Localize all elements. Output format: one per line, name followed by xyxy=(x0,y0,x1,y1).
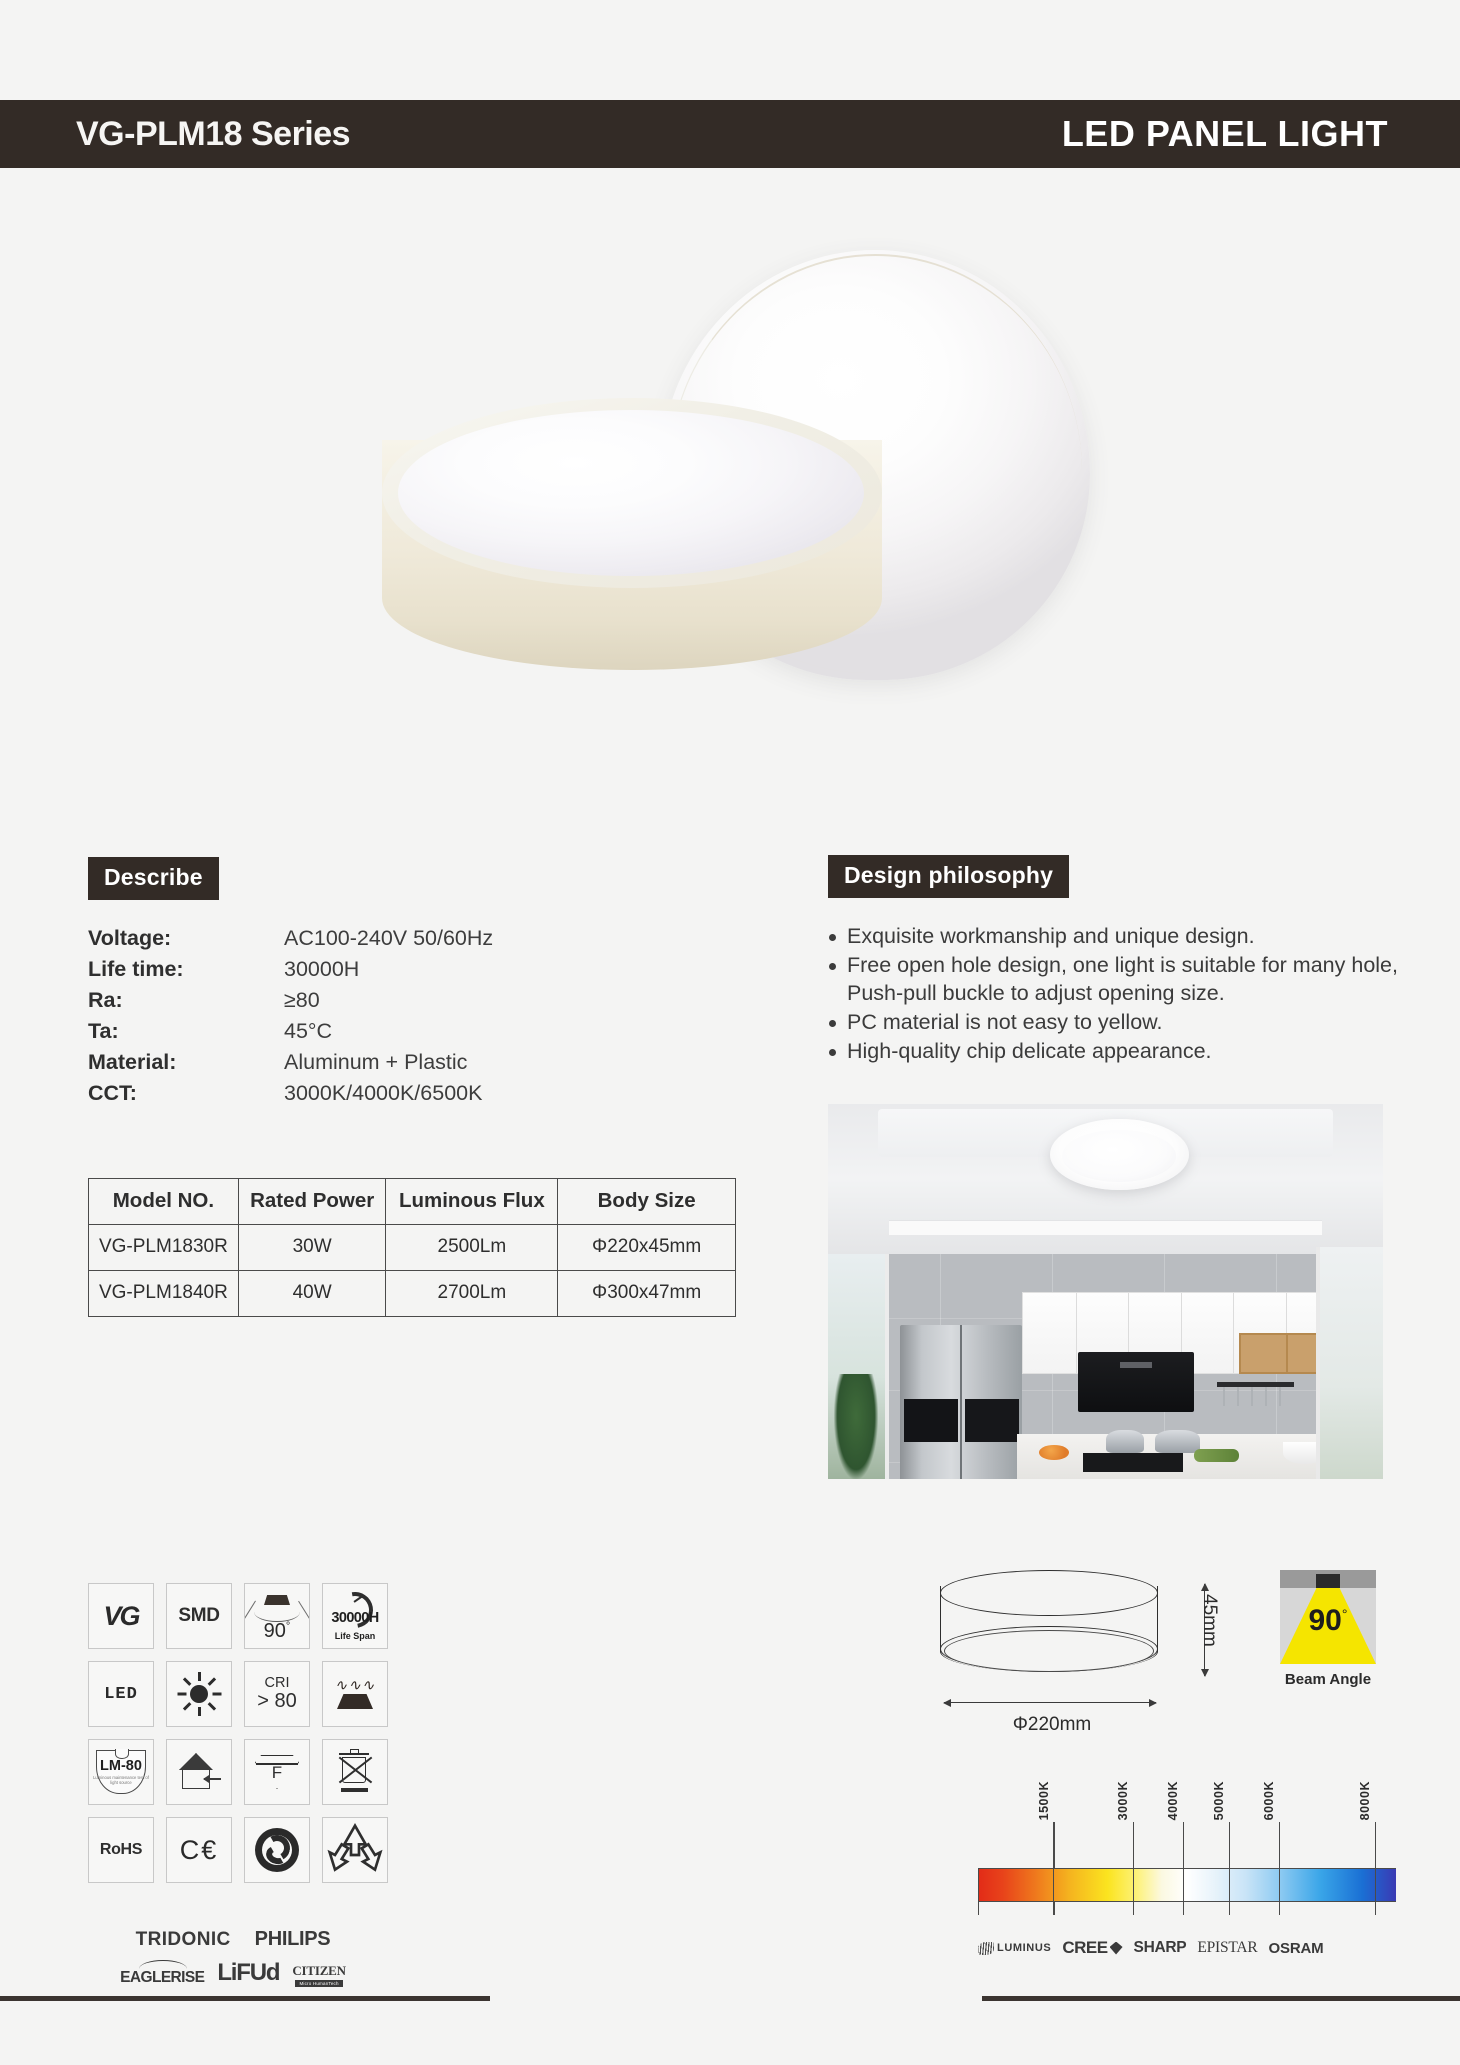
sun-ray xyxy=(213,1693,222,1696)
spec-key: Voltage: xyxy=(88,926,284,951)
brightness-sun-icon xyxy=(166,1661,232,1727)
design-bullet: Exquisite workmanship and unique design. xyxy=(828,923,1408,950)
spec-key: Material: xyxy=(88,1050,284,1075)
color-temperature-scale: 1500K 3000K 4000K 5000K 6000K 8000K xyxy=(978,1800,1396,1915)
beam-angle-value: 90° xyxy=(247,1620,307,1643)
chip-brand-logos: LUMINUS CREE SHARP EPISTAR OSRAM xyxy=(978,1938,1398,1958)
driver-brand-logos: TRIDONIC PHILIPS EAGLERISE LiFUd CITIZEN… xyxy=(88,1928,378,1987)
cct-tick xyxy=(1279,1822,1280,1868)
recycle-icon xyxy=(322,1817,388,1883)
no-flicker-glyph: F xyxy=(253,1750,301,1794)
led-label: LED xyxy=(104,1685,138,1704)
brand-citizen-sub: Micro HumanTech xyxy=(295,1980,342,1987)
ce-mark: C€ xyxy=(180,1835,219,1866)
led-icon: LED xyxy=(88,1661,154,1727)
brand-eaglerise: EAGLERISE xyxy=(120,1969,204,1987)
column-header-model: Model NO. xyxy=(89,1179,239,1225)
brand-citizen-name: CITIZEN xyxy=(292,1963,346,1979)
utensil xyxy=(1279,1387,1281,1406)
life-span-hours: 30000H xyxy=(326,1610,384,1626)
beam-fixture xyxy=(1316,1574,1340,1588)
spec-value: 45°C xyxy=(284,1019,332,1044)
diameter-dimension-label: Φ220mm xyxy=(912,1714,1192,1736)
disc-top-ellipse xyxy=(940,1570,1158,1616)
cct-bar-tick xyxy=(1053,1869,1054,1901)
cct-tick xyxy=(1375,1822,1376,1868)
spec-row: Ra: ≥80 xyxy=(88,988,728,1013)
spec-key: CCT: xyxy=(88,1081,284,1106)
beam-angle-number: 90° xyxy=(1280,1604,1376,1638)
brand-philips: PHILIPS xyxy=(255,1928,331,1951)
cell-power: 40W xyxy=(238,1271,386,1317)
beam-arc xyxy=(254,1602,300,1622)
describe-section: Describe Voltage: AC100-240V 50/60Hz Lif… xyxy=(88,857,728,1112)
life-span-icon: 30000H Life Span xyxy=(322,1583,388,1649)
luminus-fan-icon xyxy=(978,1942,994,1955)
cri-icon: CRI > 80 xyxy=(244,1661,310,1727)
spec-value: ≥80 xyxy=(284,988,320,1013)
column-header-flux: Luminous Flux xyxy=(386,1179,558,1225)
design-section-label: Design philosophy xyxy=(828,855,1069,898)
cabinet-seam xyxy=(1076,1293,1077,1374)
cct-tick-label: 6000K xyxy=(1262,1781,1276,1820)
brand-tridonic: TRIDONIC xyxy=(136,1929,231,1951)
driver-brand-row-2: EAGLERISE LiFUd CITIZEN Micro HumanTech xyxy=(88,1959,378,1987)
design-bullet: PC material is not easy to yellow. xyxy=(828,1009,1408,1036)
range-hood-display xyxy=(1120,1362,1153,1367)
utensil xyxy=(1265,1387,1267,1406)
spec-row: CCT: 3000K/4000K/6500K xyxy=(88,1081,728,1106)
footer-rule-right xyxy=(982,1996,1460,2001)
rohs-icon: RoHS xyxy=(88,1817,154,1883)
feature-icon-grid: VG SMD 90° 30000H Life Span LED xyxy=(88,1583,388,1883)
sun-ray xyxy=(183,1702,191,1710)
disc-bottom-inner-ellipse xyxy=(944,1630,1154,1672)
cct-under-tick xyxy=(1053,1902,1054,1915)
cell-model: VG-PLM1830R xyxy=(89,1225,239,1271)
product-hero-image xyxy=(380,250,1100,770)
heat-glyph: ∿∿∿ xyxy=(332,1673,378,1715)
column-header-power: Rated Power xyxy=(238,1179,386,1225)
spec-value: 3000K/4000K/6500K xyxy=(284,1081,482,1106)
lm80-icon: LM-80 Luminous maintenance test of light… xyxy=(88,1739,154,1805)
no-flicker-icon: F xyxy=(244,1739,310,1805)
refrigerator-door-split xyxy=(960,1325,962,1479)
spec-value: 30000H xyxy=(284,957,359,982)
cct-under-tick xyxy=(978,1902,979,1915)
heat-dissipation-icon: ∿∿∿ xyxy=(322,1661,388,1727)
model-specification-table: Model NO. Rated Power Luminous Flux Body… xyxy=(88,1178,736,1317)
cct-gradient-bar xyxy=(978,1868,1396,1902)
green-dot-icon xyxy=(244,1817,310,1883)
cct-tick xyxy=(1183,1822,1184,1868)
spec-row: Ta: 45°C xyxy=(88,1019,728,1044)
kitchen-refrigerator xyxy=(900,1325,1022,1479)
application-photo-kitchen xyxy=(828,1104,1383,1479)
house-glyph xyxy=(175,1751,223,1793)
beam-angle-glyph: 90° xyxy=(247,1588,307,1644)
flicker-letter: F xyxy=(253,1763,301,1783)
brand-osram: OSRAM xyxy=(1269,1940,1324,1957)
waste-bin-glyph xyxy=(334,1749,376,1795)
cree-diamond-icon xyxy=(1110,1942,1123,1955)
brand-luminus: LUMINUS xyxy=(978,1942,1051,1955)
cct-tick-label: 4000K xyxy=(1166,1781,1180,1820)
spec-value: AC100-240V 50/60Hz xyxy=(284,926,493,951)
sun-ray xyxy=(198,1672,201,1681)
cct-under-tick-row xyxy=(978,1902,1396,1915)
vg-logo-text: VG xyxy=(103,1601,138,1632)
spec-list: Voltage: AC100-240V 50/60Hz Life time: 3… xyxy=(88,926,728,1106)
cri-value: > 80 xyxy=(257,1691,296,1712)
cct-tick-label: 3000K xyxy=(1116,1781,1130,1820)
cell-size: Φ300x47mm xyxy=(558,1271,736,1317)
brand-cree: CREE xyxy=(1062,1938,1122,1958)
brand-citizen: CITIZEN Micro HumanTech xyxy=(292,1963,346,1987)
shelf-divider xyxy=(1286,1335,1288,1372)
footer-rule-left xyxy=(0,1996,490,2001)
cri-label: CRI xyxy=(265,1676,290,1691)
cct-bar-tick xyxy=(1133,1869,1134,1901)
cell-power: 30W xyxy=(238,1225,386,1271)
cct-tick-label: 1500K xyxy=(1037,1781,1051,1820)
cooking-pot xyxy=(1155,1430,1199,1453)
sun-core xyxy=(190,1685,208,1703)
table-row: VG-PLM1840R 40W 2700Lm Φ300x47mm xyxy=(89,1271,736,1317)
table-header-row: Model NO. Rated Power Luminous Flux Body… xyxy=(89,1179,736,1225)
cct-tick-row: 1500K 3000K 4000K 5000K 6000K 8000K xyxy=(978,1800,1396,1868)
brand-lifud: LiFUd xyxy=(217,1959,279,1987)
utensil xyxy=(1237,1387,1239,1406)
sun-ray xyxy=(198,1707,201,1716)
spec-key: Ta: xyxy=(88,1019,284,1044)
driver-brand-row-1: TRIDONIC PHILIPS xyxy=(88,1928,378,1951)
brand-sharp: SHARP xyxy=(1134,1939,1187,1957)
cct-bar-tick xyxy=(978,1869,979,1901)
dimension-drawing: Φ220mm 45mm xyxy=(912,1570,1192,1770)
cct-under-tick xyxy=(1133,1902,1134,1915)
bin-underline xyxy=(341,1788,368,1792)
sun-ray xyxy=(178,1693,187,1696)
vg-logo-icon: VG xyxy=(88,1583,154,1649)
house-arrow xyxy=(204,1778,221,1780)
bin-lid xyxy=(339,1753,369,1755)
lm80-caption: Luminous maintenance test of light sourc… xyxy=(93,1775,149,1786)
describe-section-label: Describe xyxy=(88,857,219,900)
bin-handle xyxy=(350,1749,359,1753)
cabinet-seam xyxy=(1233,1293,1234,1374)
spec-row: Material: Aluminum + Plastic xyxy=(88,1050,728,1075)
datasheet-page: VG-PLM18 Series LED PANEL LIGHT Describe… xyxy=(0,0,1460,2065)
kitchen-range-hood xyxy=(1078,1352,1195,1412)
cell-size: Φ220x45mm xyxy=(558,1225,736,1271)
brand-epistar: EPISTAR xyxy=(1197,1939,1257,1957)
kitchen-plant xyxy=(834,1374,878,1479)
cct-bar-tick xyxy=(1229,1869,1230,1901)
diameter-dimension-line xyxy=(944,1702,1156,1703)
cooking-pot xyxy=(1106,1430,1145,1453)
cct-tick xyxy=(1229,1822,1230,1868)
table-row: VG-PLM1830R 30W 2500Lm Φ220x45mm xyxy=(89,1225,736,1271)
height-dimension-label: 45mm xyxy=(1198,1594,1220,1647)
kitchen-stove xyxy=(1083,1453,1183,1472)
beam-angle-badge: 90° Beam Angle xyxy=(1280,1570,1376,1688)
refrigerator-panel-right xyxy=(965,1399,1019,1442)
utensil xyxy=(1251,1387,1253,1406)
product-series-title: VG-PLM18 Series xyxy=(76,115,350,154)
smd-icon: SMD xyxy=(166,1583,232,1649)
recycle-glyph xyxy=(323,1819,387,1880)
rohs-label: RoHS xyxy=(100,1841,142,1859)
cct-under-tick xyxy=(1183,1902,1184,1915)
design-bullet-list: Exquisite workmanship and unique design.… xyxy=(828,923,1408,1065)
no-bin-icon xyxy=(322,1739,388,1805)
life-span-caption: Life Span xyxy=(326,1631,384,1641)
lamp-cylinder-lens xyxy=(398,410,864,576)
spec-key: Life time: xyxy=(88,957,284,982)
kitchen-installed-lamp xyxy=(1050,1119,1189,1190)
brand-luminus-label: LUMINUS xyxy=(997,1942,1051,1954)
design-bullet: Free open hole design, one light is suit… xyxy=(828,952,1408,1007)
page-header: VG-PLM18 Series LED PANEL LIGHT xyxy=(0,100,1460,168)
kitchen-cornice xyxy=(889,1220,1322,1235)
cct-bar-tick xyxy=(1183,1869,1184,1901)
spec-row: Life time: 30000H xyxy=(88,957,728,982)
beam-angle-caption: Beam Angle xyxy=(1280,1671,1376,1688)
lm80-label: LM-80 xyxy=(93,1758,149,1774)
lm80-glyph: LM-80 Luminous maintenance test of light… xyxy=(93,1745,149,1799)
refrigerator-panel-left xyxy=(904,1399,958,1442)
page-title: LED PANEL LIGHT xyxy=(1062,113,1388,155)
green-dot-glyph xyxy=(255,1828,299,1872)
cell-flux: 2700Lm xyxy=(386,1271,558,1317)
cct-under-tick xyxy=(1279,1902,1280,1915)
brand-cree-label: CREE xyxy=(1062,1938,1107,1958)
cct-bar-tick xyxy=(1279,1869,1280,1901)
spec-row: Voltage: AC100-240V 50/60Hz xyxy=(88,926,728,951)
kitchen-utensil-rail xyxy=(1217,1382,1295,1388)
indoor-house-icon xyxy=(166,1739,232,1805)
sun-ray xyxy=(208,1677,216,1685)
life-span-glyph: 30000H Life Span xyxy=(326,1588,384,1644)
beam-angle-90-icon: 90° xyxy=(244,1583,310,1649)
design-philosophy-section: Design philosophy Exquisite workmanship … xyxy=(828,855,1408,1067)
cct-under-tick xyxy=(1229,1902,1230,1915)
column-header-size: Body Size xyxy=(558,1179,736,1225)
kitchen-window-right xyxy=(1316,1247,1383,1480)
cell-model: VG-PLM1840R xyxy=(89,1271,239,1317)
beam-angle-illustration: 90° xyxy=(1280,1570,1376,1664)
cct-tick xyxy=(1133,1822,1134,1868)
cell-flux: 2500Lm xyxy=(386,1225,558,1271)
cct-under-tick xyxy=(1375,1902,1376,1915)
cct-tick-label: 5000K xyxy=(1212,1781,1226,1820)
heat-waves: ∿∿∿ xyxy=(332,1676,378,1694)
kitchen-lamp-lens xyxy=(1062,1130,1176,1181)
heat-fixture xyxy=(337,1694,373,1709)
cct-bar-tick xyxy=(1375,1869,1376,1901)
sun-ray xyxy=(208,1702,216,1710)
spec-value: Aluminum + Plastic xyxy=(284,1050,467,1075)
utensil xyxy=(1223,1387,1225,1406)
smd-label: SMD xyxy=(178,1605,219,1627)
cct-tick-label: 8000K xyxy=(1358,1781,1372,1820)
ce-icon: C€ xyxy=(166,1817,232,1883)
spec-key: Ra: xyxy=(88,988,284,1013)
vegetables xyxy=(1194,1449,1238,1462)
sun-ray xyxy=(183,1677,191,1685)
cri-glyph: CRI > 80 xyxy=(257,1676,296,1712)
sun-glyph xyxy=(177,1672,221,1716)
design-bullet: High-quality chip delicate appearance. xyxy=(828,1038,1408,1065)
cct-tick xyxy=(1053,1822,1054,1868)
